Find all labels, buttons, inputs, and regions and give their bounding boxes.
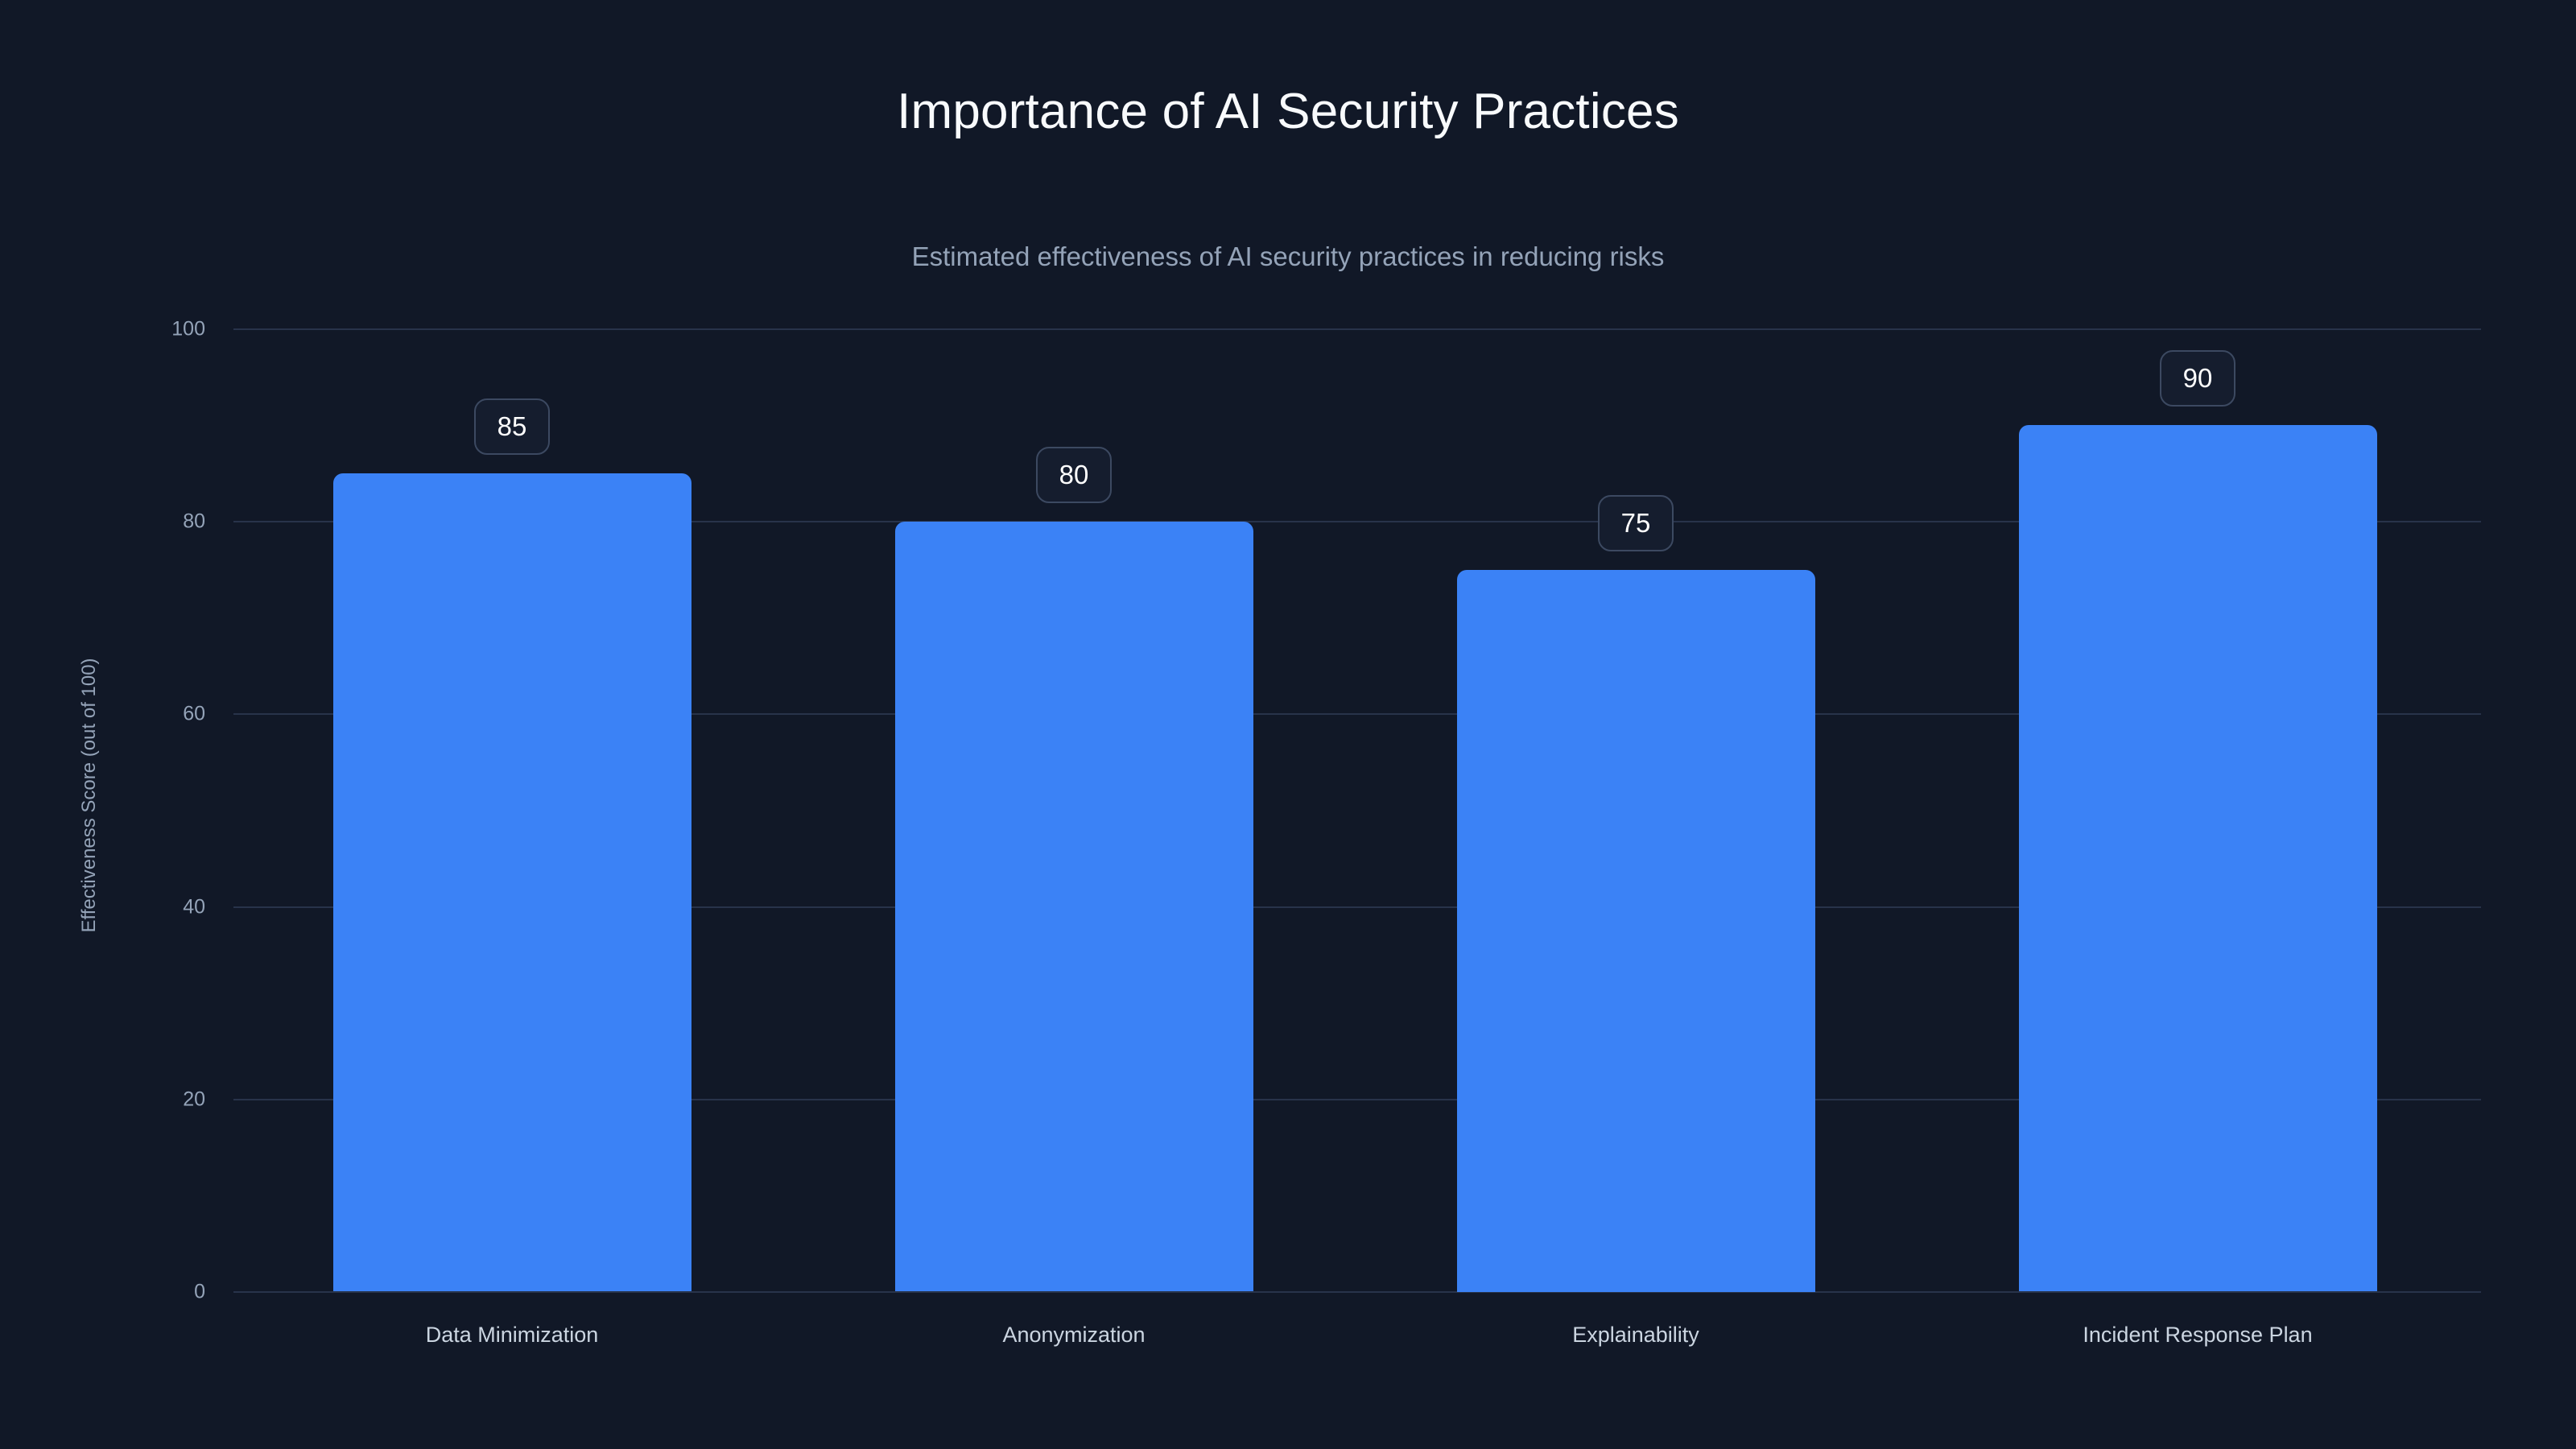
gridline-100 [233, 328, 2481, 330]
y-tick-label-0: 0 [109, 1282, 205, 1302]
y-axis-title: Effectiveness Score (out of 100) [80, 658, 99, 932]
bar-chart-figure: Importance of AI Security Practices Esti… [0, 0, 2576, 1449]
bar-data-minimization[interactable] [333, 473, 691, 1292]
x-tick-label-anonymization: Anonymization [1002, 1324, 1145, 1346]
x-tick-label-data-minimization: Data Minimization [426, 1324, 599, 1346]
value-badge-incident-response-plan: 90 [2160, 350, 2235, 407]
bar-anonymization[interactable] [895, 522, 1253, 1292]
gridline-0 [233, 1291, 2481, 1293]
bar-explainability[interactable] [1457, 570, 1815, 1292]
x-tick-label-explainability: Explainability [1572, 1324, 1699, 1346]
y-tick-label-100: 100 [109, 320, 205, 340]
y-tick-label-80: 80 [109, 512, 205, 532]
chart-title: Importance of AI Security Practices [0, 87, 2576, 137]
y-tick-label-60: 60 [109, 704, 205, 724]
x-tick-label-incident-response-plan: Incident Response Plan [2083, 1324, 2312, 1346]
y-tick-label-20: 20 [109, 1090, 205, 1110]
value-badge-anonymization: 80 [1036, 447, 1112, 503]
value-badge-data-minimization: 85 [474, 398, 550, 455]
chart-subtitle: Estimated effectiveness of AI security p… [0, 243, 2576, 270]
y-tick-label-40: 40 [109, 898, 205, 918]
value-badge-explainability: 75 [1598, 495, 1674, 551]
bar-incident-response-plan[interactable] [2019, 425, 2377, 1291]
